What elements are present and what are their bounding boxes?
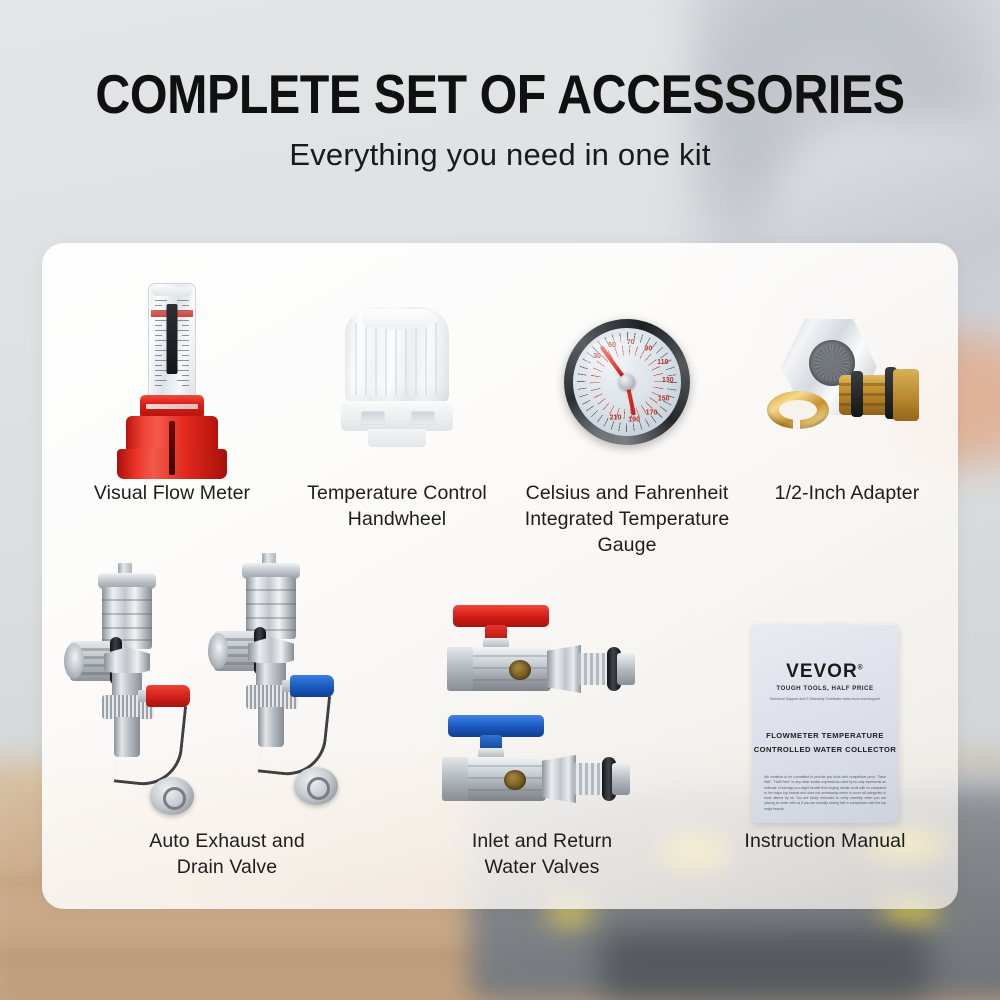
inlet-return-water-valves-image — [442, 605, 642, 825]
accessory-caption-visual-flow-meter: Visual Flow Meter — [94, 481, 250, 507]
valve-port-face — [64, 643, 84, 679]
manual-title-line2: CONTROLLED WATER COLLECTOR — [752, 745, 898, 754]
ball-valve-brass-port — [504, 770, 526, 790]
valve-cap-tether-chain — [114, 700, 187, 789]
accessory-caption-drain-valve-line2: Drain Valve — [177, 855, 277, 881]
accessory-cell-auto-exhaust-drain-valve: Auto Exhaust and Drain Valve — [62, 553, 392, 853]
ball-valve-brass-port — [509, 660, 531, 680]
ball-valve-outlet-tip — [617, 653, 635, 685]
accessory-caption-water-valves-line2: Water Valves — [485, 855, 600, 881]
half-inch-adapter-image — [767, 313, 927, 443]
accessory-cell-inlet-return-water-valves: Inlet and Return Water Valves — [392, 553, 692, 853]
valve-drain-cap-disc — [150, 777, 194, 815]
ball-valve-handle-blue[interactable] — [448, 715, 544, 737]
handwheel-window-left — [361, 411, 385, 425]
temperature-handwheel-image — [332, 307, 462, 467]
ball-valve-red — [447, 605, 637, 701]
handwheel-ribs — [355, 323, 439, 395]
handwheel-stem — [368, 429, 426, 447]
accessory-caption-gauge-line2: Integrated Temperature — [525, 507, 730, 533]
manual-registered-mark: ® — [858, 665, 864, 672]
gauge-glass-glare — [586, 337, 653, 380]
auto-exhaust-valve-red — [88, 563, 208, 823]
accessory-cell-visual-flow-meter: Visual Flow Meter — [62, 265, 282, 505]
ball-valve-union-nut — [542, 755, 576, 803]
gauge-bezel: 30507090110130150170190210 — [564, 319, 690, 445]
gauge-numeral: 150 — [658, 396, 670, 403]
heading-block: COMPLETE SET OF ACCESSORIES Everything y… — [0, 66, 1000, 173]
handwheel-collar — [341, 401, 453, 431]
gauge-numeral: 190 — [628, 417, 640, 424]
auto-exhaust-valve-blue — [232, 553, 352, 813]
visual-flow-meter-image — [112, 283, 232, 483]
flow-meter-float-indicator — [167, 304, 178, 374]
accessory-caption-instruction-manual: Instruction Manual — [744, 829, 905, 855]
handwheel-window-right — [411, 411, 435, 425]
adapter-brass-tip — [893, 369, 919, 421]
ball-valve-female-thread-end — [447, 647, 473, 691]
gauge-numeral: 210 — [610, 415, 622, 422]
accessory-caption-drain-valve-line1: Auto Exhaust and — [149, 829, 305, 855]
manual-body-text: We continue to be committed to provide y… — [764, 775, 886, 812]
gauge-numeral: 110 — [657, 359, 668, 366]
gauge-numeral: 130 — [662, 377, 674, 384]
adapter-brass-split-ring — [767, 391, 829, 429]
ball-valve-female-thread-end — [442, 757, 468, 801]
valve-port-face — [208, 633, 228, 669]
manual-paper-sheet: VEVOR® TOUGH TOOLS, HALF PRICE Technical… — [752, 625, 898, 823]
manual-title-line1: FLOWMETER TEMPERATURE — [752, 731, 898, 740]
ball-valve-outlet-tip — [612, 763, 630, 795]
gauge-numeral: 170 — [646, 410, 658, 417]
instruction-manual-image: VEVOR® TOUGH TOOLS, HALF PRICE Technical… — [752, 625, 898, 823]
accessories-card: Visual Flow Meter Temperature Control Ha… — [42, 243, 958, 909]
manual-brand-logo: VEVOR® — [752, 661, 898, 683]
manual-fineprint: Technical Support and E-Warranty Certifi… — [762, 697, 888, 702]
ball-valve-handle-red[interactable] — [453, 605, 549, 627]
accessory-caption-handwheel-line1: Temperature Control — [307, 481, 487, 507]
manual-brand-name: VEVOR — [786, 661, 858, 682]
flow-meter-sight-tube — [148, 283, 196, 403]
accessory-caption-half-inch-adapter: 1/2-Inch Adapter — [775, 481, 920, 507]
flow-meter-base-slot — [169, 421, 175, 475]
ball-valve-blue — [442, 715, 632, 811]
valve-drain-cap-disc — [294, 767, 338, 805]
handwheel-top-cap — [362, 309, 432, 329]
accessory-caption-handwheel-line2: Handwheel — [348, 507, 446, 533]
accessory-cell-temperature-handwheel: Temperature Control Handwheel — [282, 265, 512, 505]
background-dark-tool — [600, 930, 930, 1000]
temperature-gauge-image: 30507090110130150170190210 — [564, 319, 690, 445]
ball-valve-union-nut — [547, 645, 581, 693]
manual-tagline: TOUGH TOOLS, HALF PRICE — [752, 685, 898, 692]
valve-cap-tether-chain — [258, 690, 331, 779]
accessory-caption-gauge-line1: Celsius and Fahrenheit — [526, 481, 729, 507]
accessory-cell-half-inch-adapter: 1/2-Inch Adapter — [742, 265, 952, 505]
accessory-cell-temperature-gauge: 30507090110130150170190210 Celsius and F… — [512, 265, 742, 505]
gauge-dial-face: 30507090110130150170190210 — [573, 328, 681, 436]
accessory-cell-instruction-manual: VEVOR® TOUGH TOOLS, HALF PRICE Technical… — [692, 553, 958, 853]
flow-meter-scale-right — [177, 300, 189, 392]
accessory-caption-water-valves-line1: Inlet and Return — [472, 829, 612, 855]
flow-meter-scale-left — [155, 300, 167, 392]
page-title: COMPLETE SET OF ACCESSORIES — [60, 66, 940, 124]
page-subtitle: Everything you need in one kit — [0, 137, 1000, 173]
flow-meter-tube-cap — [152, 287, 192, 296]
adapter-o-ring — [851, 371, 863, 417]
auto-exhaust-drain-valve-image — [82, 553, 372, 823]
